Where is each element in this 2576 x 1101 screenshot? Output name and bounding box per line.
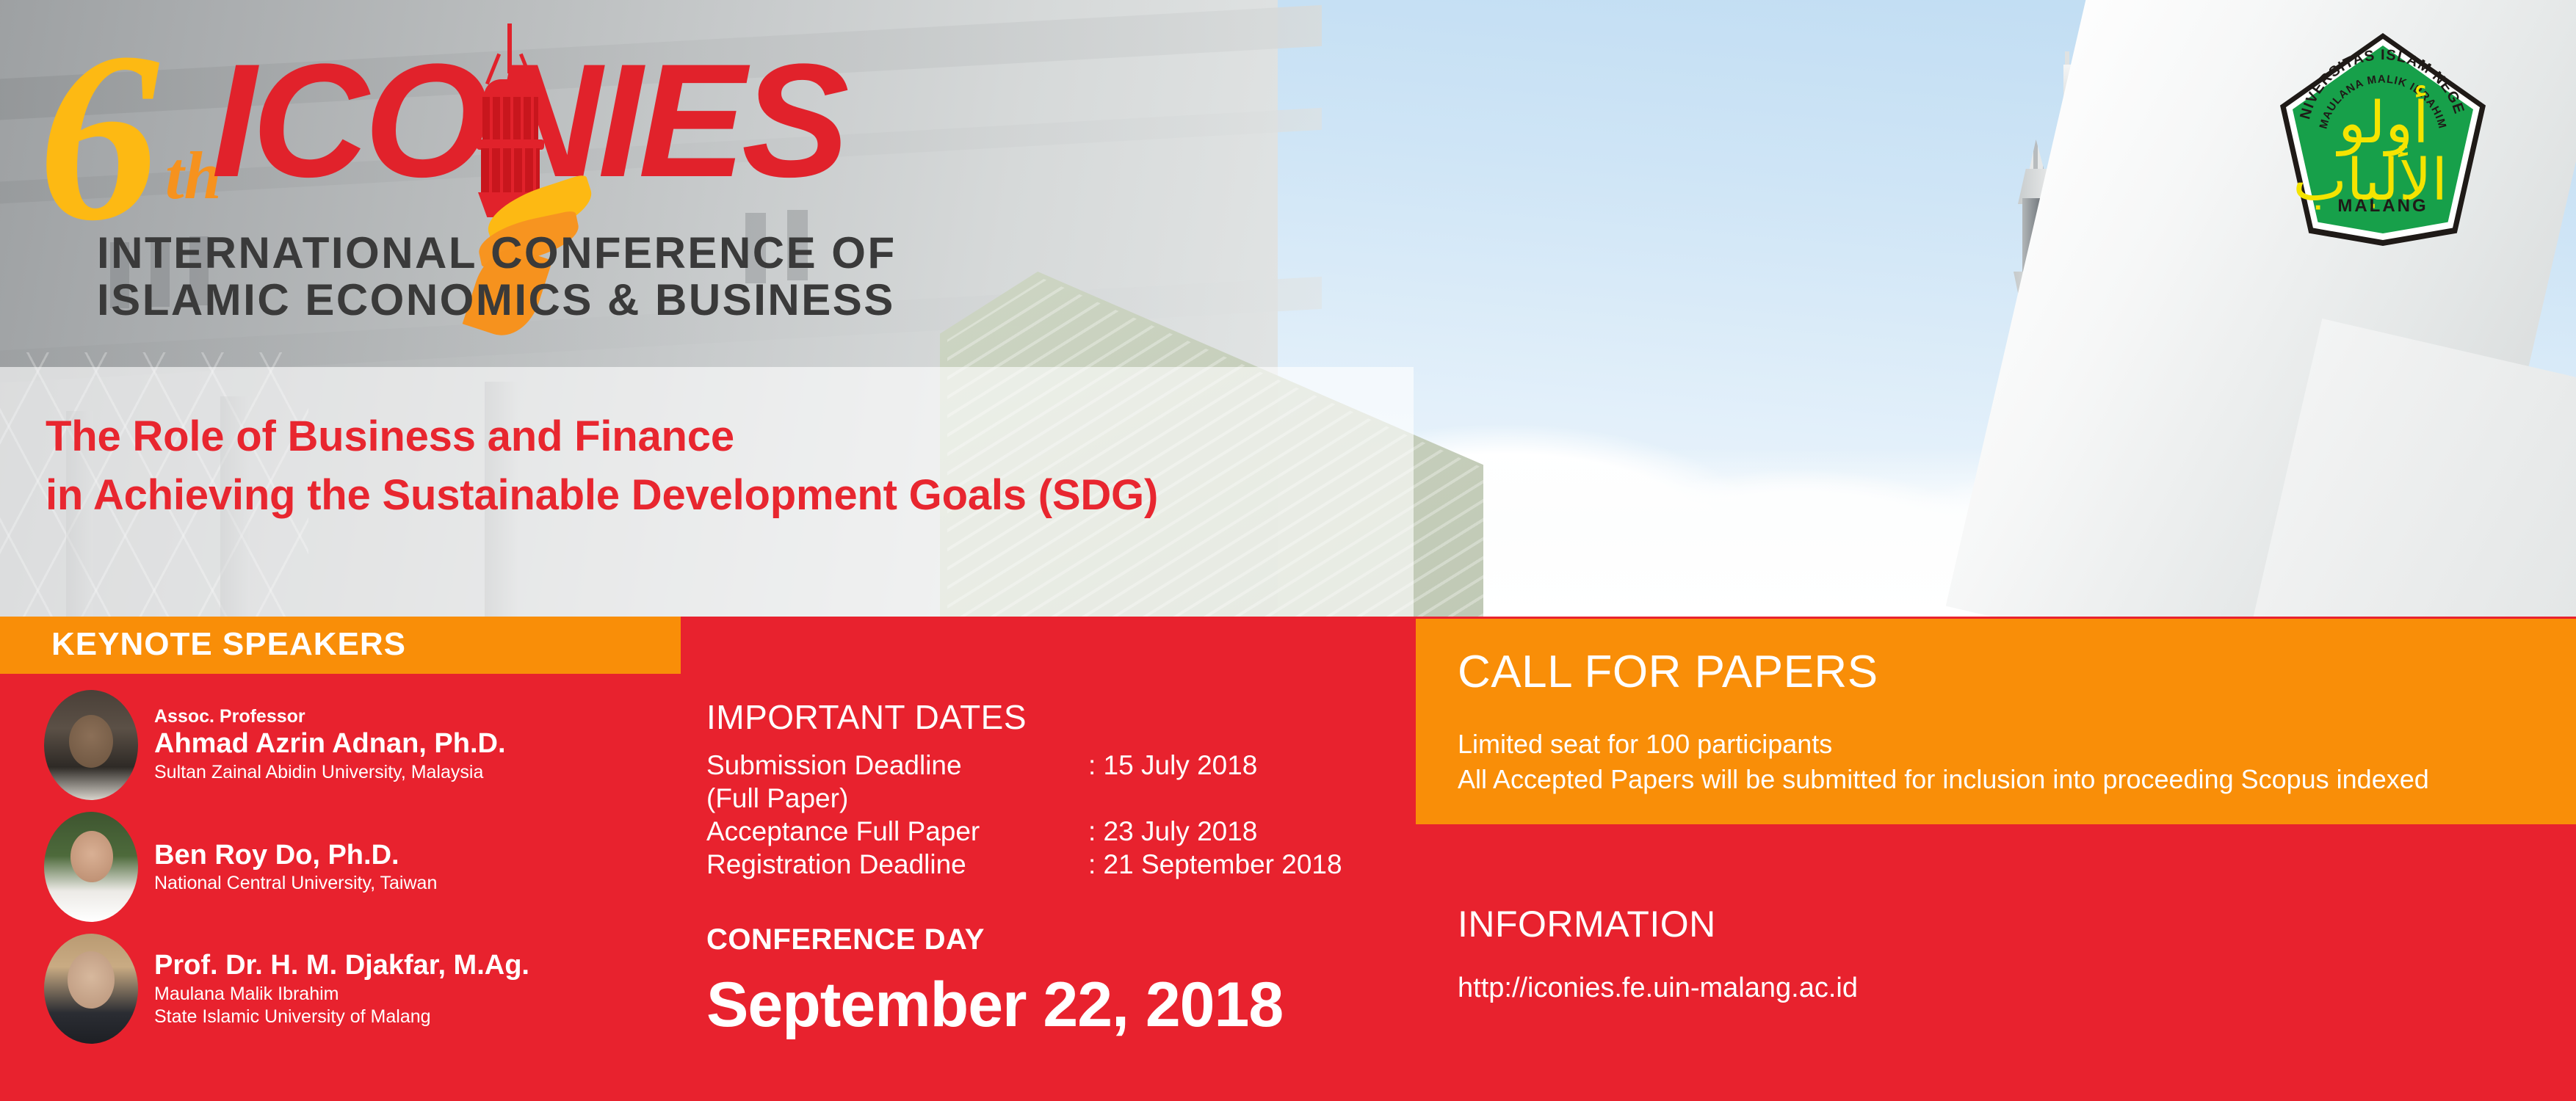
tower-cap	[484, 79, 537, 98]
logo-subtitle-line1: INTERNATIONAL CONFERENCE OF	[97, 228, 897, 278]
tower-body-upper	[482, 97, 538, 142]
conference-day-date: September 22, 2018	[706, 969, 1283, 1042]
date-label: (Full Paper)	[706, 782, 1088, 815]
call-for-papers-line2: All Accepted Papers will be submitted fo…	[1458, 762, 2429, 797]
list-item: Ben Roy Do, Ph.D. National Central Unive…	[44, 812, 676, 922]
speaker-name: Ben Roy Do, Ph.D.	[154, 839, 437, 873]
important-dates-table: Submission Deadline : 15 July 2018 (Full…	[706, 749, 1367, 882]
speaker-affiliation: Sultan Zainal Abidin University, Malaysi…	[154, 761, 506, 784]
keynote-heading: KEYNOTE SPEAKERS	[51, 626, 406, 663]
speaker-name: Ahmad Azrin Adnan, Ph.D.	[154, 727, 506, 761]
tower-spire-part	[507, 23, 512, 73]
call-for-papers-body: Limited seat for 100 participants All Ac…	[1458, 727, 2429, 796]
conference-title-line1: The Role of Business and Finance	[46, 407, 1367, 466]
date-label: Submission Deadline	[706, 749, 1088, 782]
university-logo: UNIVERSITAS ISLAM NEGERI MAULANA MALIK I…	[2280, 33, 2486, 246]
date-label: Acceptance Full Paper	[706, 815, 1088, 848]
information-heading: INFORMATION	[1458, 903, 1716, 945]
speaker-details: Prof. Dr. H. M. Djakfar, M.Ag. Maulana M…	[154, 949, 529, 1028]
page-title: The Role of Business and Finance in Achi…	[46, 407, 1367, 525]
date-label: Registration Deadline	[706, 848, 1088, 881]
conference-title-line2: in Achieving the Sustainable Development…	[46, 466, 1367, 525]
call-for-papers-heading: CALL FOR PAPERS	[1458, 646, 1878, 698]
conference-day-heading: CONFERENCE DAY	[706, 923, 985, 956]
date-value: : 23 July 2018	[1088, 815, 1257, 848]
logo-ordinal-number: 6	[38, 16, 159, 258]
speaker-name: Prof. Dr. H. M. Djakfar, M.Ag.	[154, 949, 529, 983]
avatar	[44, 690, 138, 800]
call-for-papers-line1: Limited seat for 100 participants	[1458, 727, 2429, 762]
speaker-affiliation: Maulana Malik Ibrahim	[154, 983, 529, 1006]
avatar	[44, 934, 138, 1044]
speaker-details: Assoc. Professor Ahmad Azrin Adnan, Ph.D…	[154, 706, 506, 784]
list-item: Assoc. Professor Ahmad Azrin Adnan, Ph.D…	[44, 690, 676, 800]
important-dates-heading: IMPORTANT DATES	[706, 697, 1027, 737]
table-row: Submission Deadline : 15 July 2018	[706, 749, 1367, 782]
table-row: (Full Paper)	[706, 782, 1367, 815]
table-row: Registration Deadline : 21 September 201…	[706, 848, 1367, 881]
keynote-speakers-list: Assoc. Professor Ahmad Azrin Adnan, Ph.D…	[44, 690, 676, 1055]
logo-subtitle-line2: ISLAMIC ECONOMICS & BUSINESS	[97, 275, 895, 325]
university-city-label: MALANG	[2280, 196, 2486, 217]
iconies-logo: 6 th ICONIES INTERNATIONAL CONFERENCE OF…	[29, 13, 911, 358]
table-row: Acceptance Full Paper : 23 July 2018	[706, 815, 1367, 848]
speaker-affiliation-2: State Islamic University of Malang	[154, 1006, 529, 1028]
list-item: Prof. Dr. H. M. Djakfar, M.Ag. Maulana M…	[44, 934, 676, 1044]
conference-banner: 6 th ICONIES INTERNATIONAL CONFERENCE OF…	[0, 0, 2576, 1101]
avatar	[44, 812, 138, 922]
date-value: : 21 September 2018	[1088, 848, 1342, 881]
speaker-affiliation: National Central University, Taiwan	[154, 872, 437, 895]
information-url[interactable]: http://iconies.fe.uin-malang.ac.id	[1458, 973, 1858, 1004]
arabic-calligraphy: أولو الألباب	[2320, 95, 2447, 190]
speaker-details: Ben Roy Do, Ph.D. National Central Unive…	[154, 839, 437, 895]
date-value: : 15 July 2018	[1088, 749, 1257, 782]
speaker-prefix: Assoc. Professor	[154, 706, 506, 727]
